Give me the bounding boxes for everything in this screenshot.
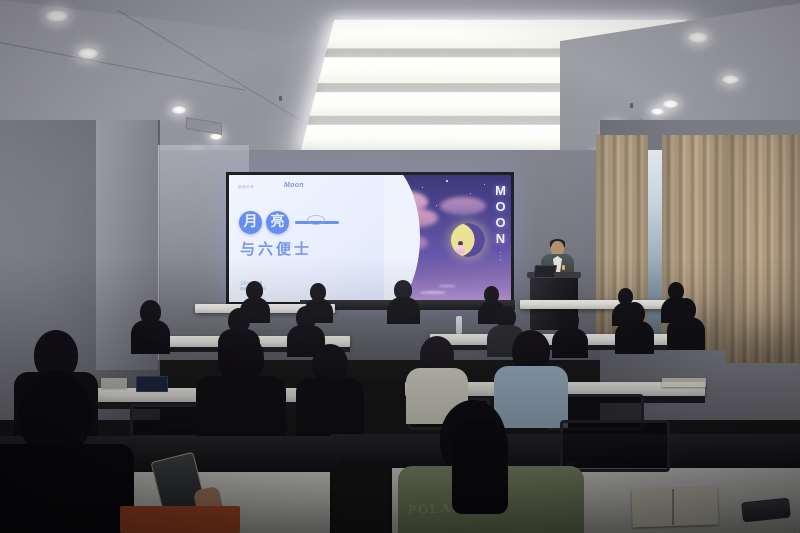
laptop-icon xyxy=(533,265,557,278)
slide-art-dots: ··· xyxy=(496,251,505,262)
downlight-icon xyxy=(172,106,186,114)
slide-title-char-2: 亮 xyxy=(266,211,289,234)
downlight-icon xyxy=(78,48,98,59)
papers xyxy=(662,378,706,387)
slide-title-char-1: 月 xyxy=(239,211,262,234)
speaker-badge xyxy=(562,265,565,270)
book-spine xyxy=(672,489,674,525)
downlight-icon xyxy=(46,10,68,22)
notebook xyxy=(136,376,168,392)
slide-subtitle: 与六便士 xyxy=(240,238,312,259)
downlight-icon xyxy=(651,108,664,115)
desk-row-back xyxy=(520,300,670,309)
presentation-slide[interactable]: 阅读分享 · Moon 月 亮 与六便士 主讲人：张老师 时间：2024.04.… xyxy=(229,175,511,302)
slide-art-word: MOON xyxy=(493,183,508,247)
lecture-hall-photo: 阅读分享 · Moon 月 亮 与六便士 主讲人：张老师 时间：2024.04.… xyxy=(0,0,800,533)
slide-logo: Moon xyxy=(284,182,304,189)
slide-title: 月 亮 xyxy=(239,211,339,234)
open-book xyxy=(631,487,718,528)
downlight-icon xyxy=(688,32,708,43)
downlight-icon xyxy=(722,75,739,84)
chair xyxy=(560,420,670,472)
curtain-panel-right xyxy=(726,135,800,363)
sprinkler-icon xyxy=(279,96,282,101)
crescent-moon-icon xyxy=(447,219,490,262)
hair xyxy=(452,418,508,514)
slide-decorative-glyph xyxy=(307,215,325,225)
sprinkler-icon xyxy=(630,103,633,108)
water-bottle xyxy=(456,316,462,334)
papers xyxy=(101,378,127,388)
orange-folder xyxy=(120,506,240,533)
cloud-shape xyxy=(440,197,486,215)
downlight-icon xyxy=(663,100,678,108)
slide-kicker-text: 阅读分享 · xyxy=(238,184,258,189)
girl-on-moon-figure xyxy=(456,241,465,254)
